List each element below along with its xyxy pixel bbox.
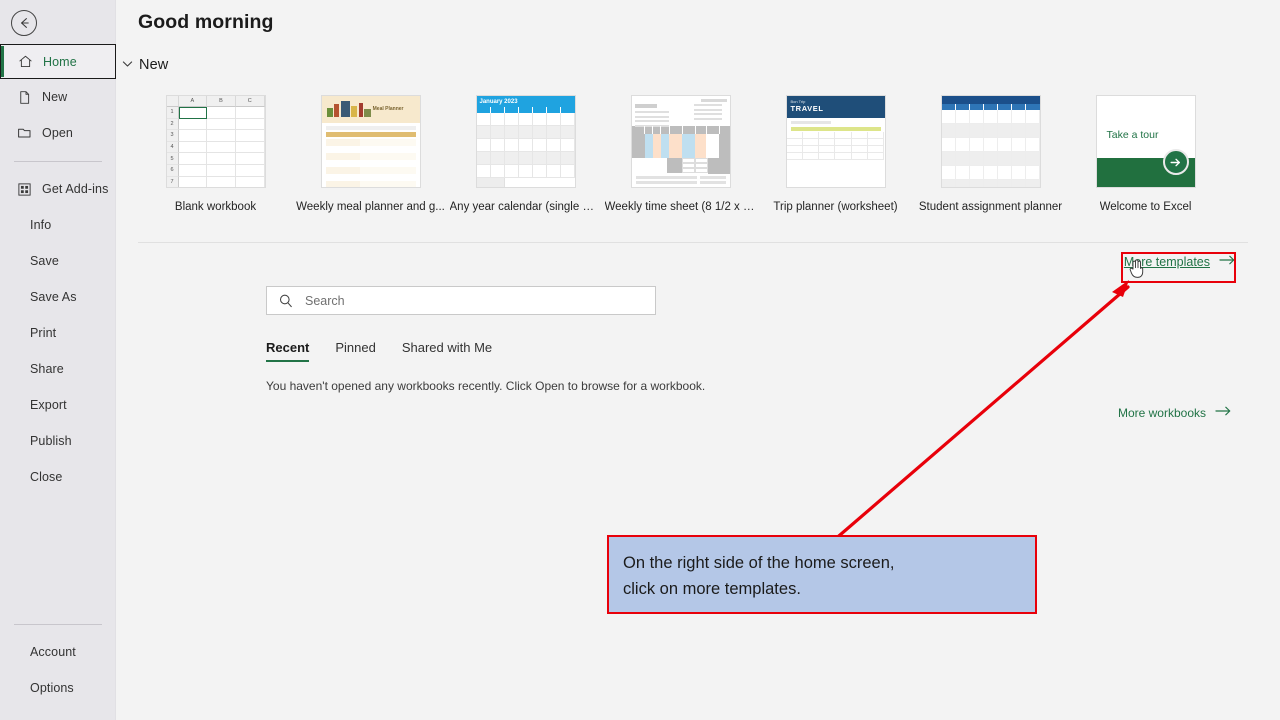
sidebar-item-label: New: [42, 90, 67, 104]
tab-pinned[interactable]: Pinned: [335, 340, 375, 362]
arrow-right-icon: [1215, 405, 1232, 420]
search-input[interactable]: [305, 294, 645, 308]
meal-planner-thumb: Meal Planner: [321, 95, 421, 188]
empty-state-message: You haven't opened any workbooks recentl…: [266, 379, 705, 393]
sidebar-item-label: Publish: [30, 434, 72, 448]
sidebar-item-close[interactable]: Close: [0, 459, 116, 495]
sidebar-divider-1: [14, 161, 102, 162]
meal-thumb-title: Meal Planner: [373, 106, 404, 112]
template-caption: Weekly time sheet (8 1/2 x 1...: [605, 201, 757, 213]
sidebar-item-get-add-ins[interactable]: Get Add-ins: [0, 171, 116, 207]
template-card-student-assignment-planner[interactable]: Student assignment planner: [913, 95, 1068, 213]
trip-thumb-title: TRAVEL: [791, 104, 881, 113]
addins-icon: [16, 181, 33, 198]
page-icon: [16, 89, 33, 106]
trip-planner-thumb: Bon Trip TRAVEL: [786, 95, 886, 188]
student-planner-thumb: [941, 95, 1041, 188]
trip-thumb-subtitle: Bon Trip: [791, 99, 881, 104]
new-section-label: New: [139, 57, 168, 73]
section-divider: [138, 242, 1248, 243]
sidebar-item-label: Info: [30, 218, 51, 232]
template-card-trip-planner[interactable]: Bon Trip TRAVEL Trip planner (worksheet): [758, 95, 913, 213]
chevron-down-icon: [119, 60, 135, 71]
tab-label: Recent: [266, 340, 309, 355]
time-sheet-thumb: [631, 95, 731, 188]
welcome-tour-thumb: Take a tour: [1096, 95, 1196, 188]
new-section-header[interactable]: New: [119, 57, 168, 73]
sidebar-item-label: Options: [30, 681, 74, 695]
template-caption: Student assignment planner: [919, 201, 1062, 213]
sidebar-item-account[interactable]: Account: [0, 634, 116, 670]
sidebar-item-publish[interactable]: Publish: [0, 423, 116, 459]
blank-workbook-thumb: A B C 1 2 3 4 5 6 7: [166, 95, 266, 188]
sidebar-item-save[interactable]: Save: [0, 243, 116, 279]
template-card-welcome-to-excel[interactable]: Take a tour Welcome to Excel: [1068, 95, 1223, 213]
template-caption: Any year calendar (single m...: [450, 201, 602, 213]
more-workbooks-label: More workbooks: [1118, 406, 1206, 420]
sidebar-item-label: Account: [30, 645, 76, 659]
home-icon: [17, 53, 34, 70]
sidebar-item-label: Export: [30, 398, 67, 412]
tab-label: Pinned: [335, 340, 375, 355]
sidebar-bottom-nav: Account Options: [0, 614, 116, 706]
template-card-weekly-meal-planner[interactable]: Meal Planner Weekly meal planner: [293, 95, 448, 213]
sidebar-item-label: Get Add-ins: [42, 182, 108, 196]
back-button[interactable]: [10, 9, 38, 37]
more-workbooks-link[interactable]: More workbooks: [1118, 405, 1232, 420]
template-card-blank-workbook[interactable]: A B C 1 2 3 4 5 6 7 Blank workbook: [138, 95, 293, 213]
calendar-thumb-title: January 2023: [477, 96, 575, 107]
sidebar-item-open[interactable]: Open: [0, 115, 116, 151]
template-caption: Trip planner (worksheet): [773, 201, 897, 213]
tab-label: Shared with Me: [402, 340, 492, 355]
callout-line-1: On the right side of the home screen,: [623, 550, 1021, 576]
template-card-any-year-calendar[interactable]: January 2023 Any year calendar (single m…: [448, 95, 603, 213]
take-a-tour-label: Take a tour: [1107, 129, 1159, 141]
sidebar-item-label: Home: [43, 55, 77, 69]
arrow-right-circle-icon: [1163, 149, 1189, 175]
sidebar-item-label: Save: [30, 254, 59, 268]
calendar-thumb: January 2023: [476, 95, 576, 188]
template-caption: Blank workbook: [175, 201, 256, 213]
documents-tabs: Recent Pinned Shared with Me: [266, 340, 492, 362]
tab-recent[interactable]: Recent: [266, 340, 309, 362]
sidebar-item-label: Save As: [30, 290, 77, 304]
page-title: Good morning: [138, 11, 274, 34]
pointer-hand-cursor: [1128, 258, 1144, 278]
search-box[interactable]: [266, 286, 656, 315]
sidebar-item-share[interactable]: Share: [0, 351, 116, 387]
sidebar-item-home[interactable]: Home: [0, 44, 116, 79]
template-caption: Weekly meal planner and g...: [296, 201, 445, 213]
template-gallery: A B C 1 2 3 4 5 6 7 Blank workbook: [138, 95, 1223, 213]
backstage-sidebar: Home New Open: [0, 0, 116, 720]
sidebar-item-label: Open: [42, 126, 73, 140]
folder-icon: [16, 125, 33, 142]
sidebar-item-label: Share: [30, 362, 64, 376]
tab-shared-with-me[interactable]: Shared with Me: [402, 340, 492, 362]
back-arrow-icon: [11, 10, 37, 36]
template-caption: Welcome to Excel: [1100, 201, 1192, 213]
sidebar-item-options[interactable]: Options: [0, 670, 116, 706]
arrow-right-icon: [1219, 254, 1236, 269]
sidebar-item-new[interactable]: New: [0, 79, 116, 115]
callout-line-2: click on more templates.: [623, 576, 1021, 602]
excel-home-screen: Home New Open: [0, 0, 1280, 720]
sidebar-item-label: Print: [30, 326, 56, 340]
sidebar-item-print[interactable]: Print: [0, 315, 116, 351]
sidebar-item-label: Close: [30, 470, 62, 484]
instruction-callout: On the right side of the home screen, cl…: [607, 535, 1037, 614]
sidebar-divider-2: [14, 624, 102, 625]
sidebar-item-export[interactable]: Export: [0, 387, 116, 423]
sidebar-item-save-as[interactable]: Save As: [0, 279, 116, 315]
search-icon: [277, 293, 295, 309]
sidebar-item-info[interactable]: Info: [0, 207, 116, 243]
sidebar-nav: Home New Open: [0, 44, 116, 495]
template-card-weekly-time-sheet[interactable]: Weekly time sheet (8 1/2 x 1...: [603, 95, 758, 213]
